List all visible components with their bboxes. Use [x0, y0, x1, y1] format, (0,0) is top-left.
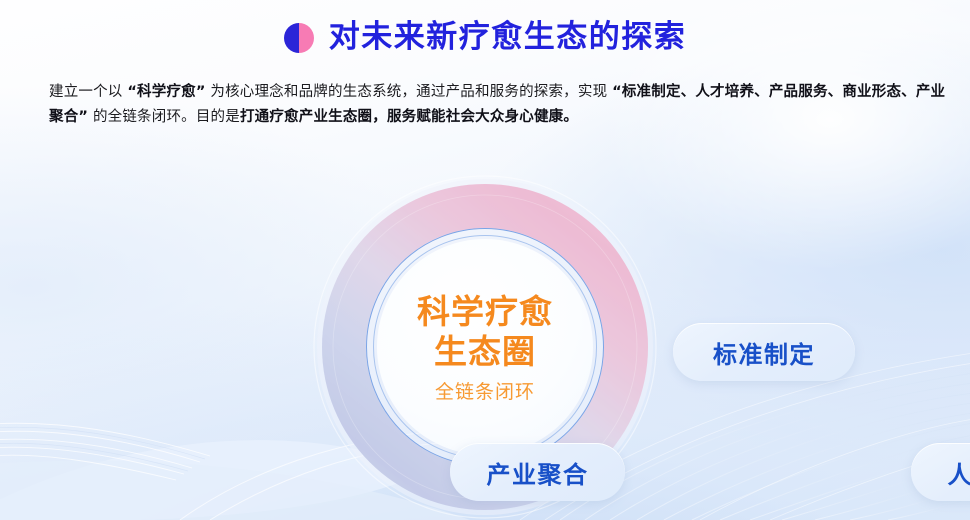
center-title-line-2: 生态圈 [434, 332, 536, 372]
slide-header: 对未来新疗愈生态的探索 [0, 22, 970, 57]
half-disc-pink-icon [299, 23, 314, 53]
intro-text-2: 为核心理念和品牌的生态系统，通过产品和服务的探索，实现 [206, 84, 613, 100]
page-title: 对未来新疗愈生态的探索 [329, 22, 687, 53]
node-standard[interactable]: 标准制定 [673, 323, 855, 381]
intro-text-1: 建立一个以 [49, 84, 127, 100]
node-talent[interactable]: 人才培养 [911, 443, 970, 501]
title-row: 对未来新疗愈生态的探索 [284, 22, 687, 53]
intro-text-3: 的全链条闭环。目的是 [88, 109, 240, 125]
intro-emphasis-1: “科学疗愈” [127, 84, 205, 100]
intro-paragraph: 建立一个以 “科学疗愈” 为核心理念和品牌的生态系统，通过产品和服务的探索，实现… [49, 80, 949, 130]
center-subtitle: 全链条闭环 [435, 381, 535, 403]
slide-canvas: 对未来新疗愈生态的探索 建立一个以 “科学疗愈” 为核心理念和品牌的生态系统，通… [0, 0, 970, 520]
intro-emphasis-2: “标准制定、人才培养、产品服务、 [612, 84, 842, 100]
node-industry[interactable]: 产业聚合 [450, 443, 625, 501]
brand-logo-icon [284, 23, 316, 53]
intro-emphasis-4: 打通疗愈产业生态圈，服务赋能社会大众身心健康。 [240, 109, 578, 125]
node-standard-label: 标准制定 [713, 335, 815, 370]
center-label-group: 科学疗愈 生态圈 全链条闭环 [377, 239, 593, 455]
half-disc-blue-icon [284, 23, 299, 53]
node-talent-label: 人才培养 [948, 455, 970, 490]
node-industry-label: 产业聚合 [487, 455, 589, 490]
ecosystem-diagram: 科学疗愈 生态圈 全链条闭环 标准制定 人才培养 产品服务 商业形态 产业聚合 [285, 175, 685, 520]
center-title-line-1: 科学疗愈 [417, 292, 553, 332]
